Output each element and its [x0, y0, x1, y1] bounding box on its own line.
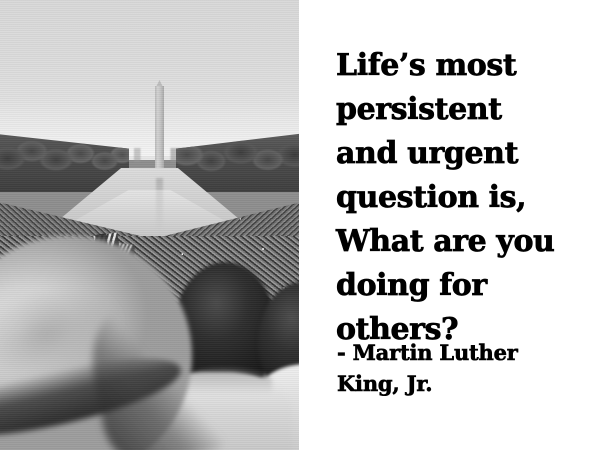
attribution-line: King, Jr. [337, 368, 587, 399]
quote-panel: Life’s most persistent and urgent questi… [299, 0, 600, 450]
quote-line: and urgent [336, 132, 591, 176]
quote-line: doing for [336, 264, 591, 308]
march-on-washington-photo [0, 0, 299, 450]
quote-attribution: - Martin Luther King, Jr. [337, 337, 587, 399]
quote-line: Life’s most [336, 44, 591, 88]
quote-line: What are you [336, 220, 591, 264]
quote-graphic: Life’s most persistent and urgent questi… [0, 0, 600, 450]
quote-line: persistent [336, 88, 591, 132]
quote-line: question is, [336, 176, 591, 220]
attribution-line: - Martin Luther [337, 337, 587, 368]
quote-text: Life’s most persistent and urgent questi… [336, 44, 591, 352]
